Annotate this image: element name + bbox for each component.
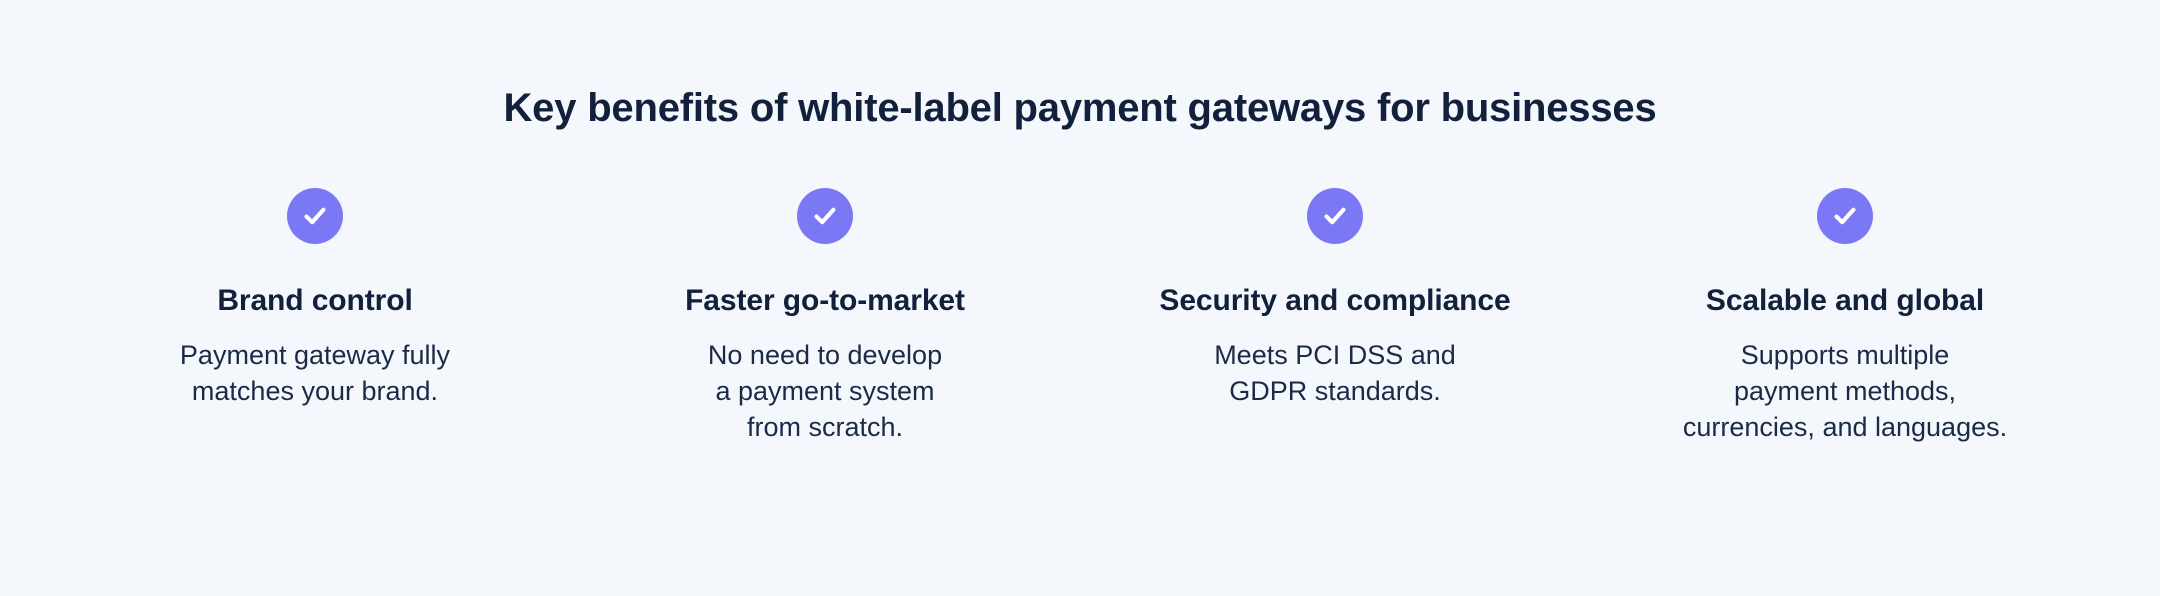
benefit-description: Meets PCI DSS and GDPR standards.: [1214, 337, 1456, 409]
benefit-title: Scalable and global: [1706, 284, 1984, 319]
benefit-item-faster-go-to-market: Faster go-to-market No need to develop a…: [570, 188, 1080, 445]
benefits-infographic: Key benefits of white-label payment gate…: [0, 0, 2160, 596]
benefit-description: Payment gateway fully matches your brand…: [180, 337, 450, 409]
benefit-item-brand-control: Brand control Payment gateway fully matc…: [60, 188, 570, 409]
page-title: Key benefits of white-label payment gate…: [504, 86, 1657, 130]
check-circle-icon: [1817, 188, 1873, 244]
benefit-title: Brand control: [217, 284, 412, 319]
benefit-description: Supports multiple payment methods, curre…: [1683, 337, 2007, 446]
benefit-description: No need to develop a payment system from…: [708, 337, 942, 446]
benefits-row: Brand control Payment gateway fully matc…: [60, 188, 2100, 445]
check-circle-icon: [797, 188, 853, 244]
benefit-item-scalable-and-global: Scalable and global Supports multiple pa…: [1590, 188, 2100, 445]
benefit-title: Security and compliance: [1159, 284, 1510, 319]
check-circle-icon: [287, 188, 343, 244]
benefit-item-security-and-compliance: Security and compliance Meets PCI DSS an…: [1080, 188, 1590, 409]
benefit-title: Faster go-to-market: [685, 284, 965, 319]
check-circle-icon: [1307, 188, 1363, 244]
